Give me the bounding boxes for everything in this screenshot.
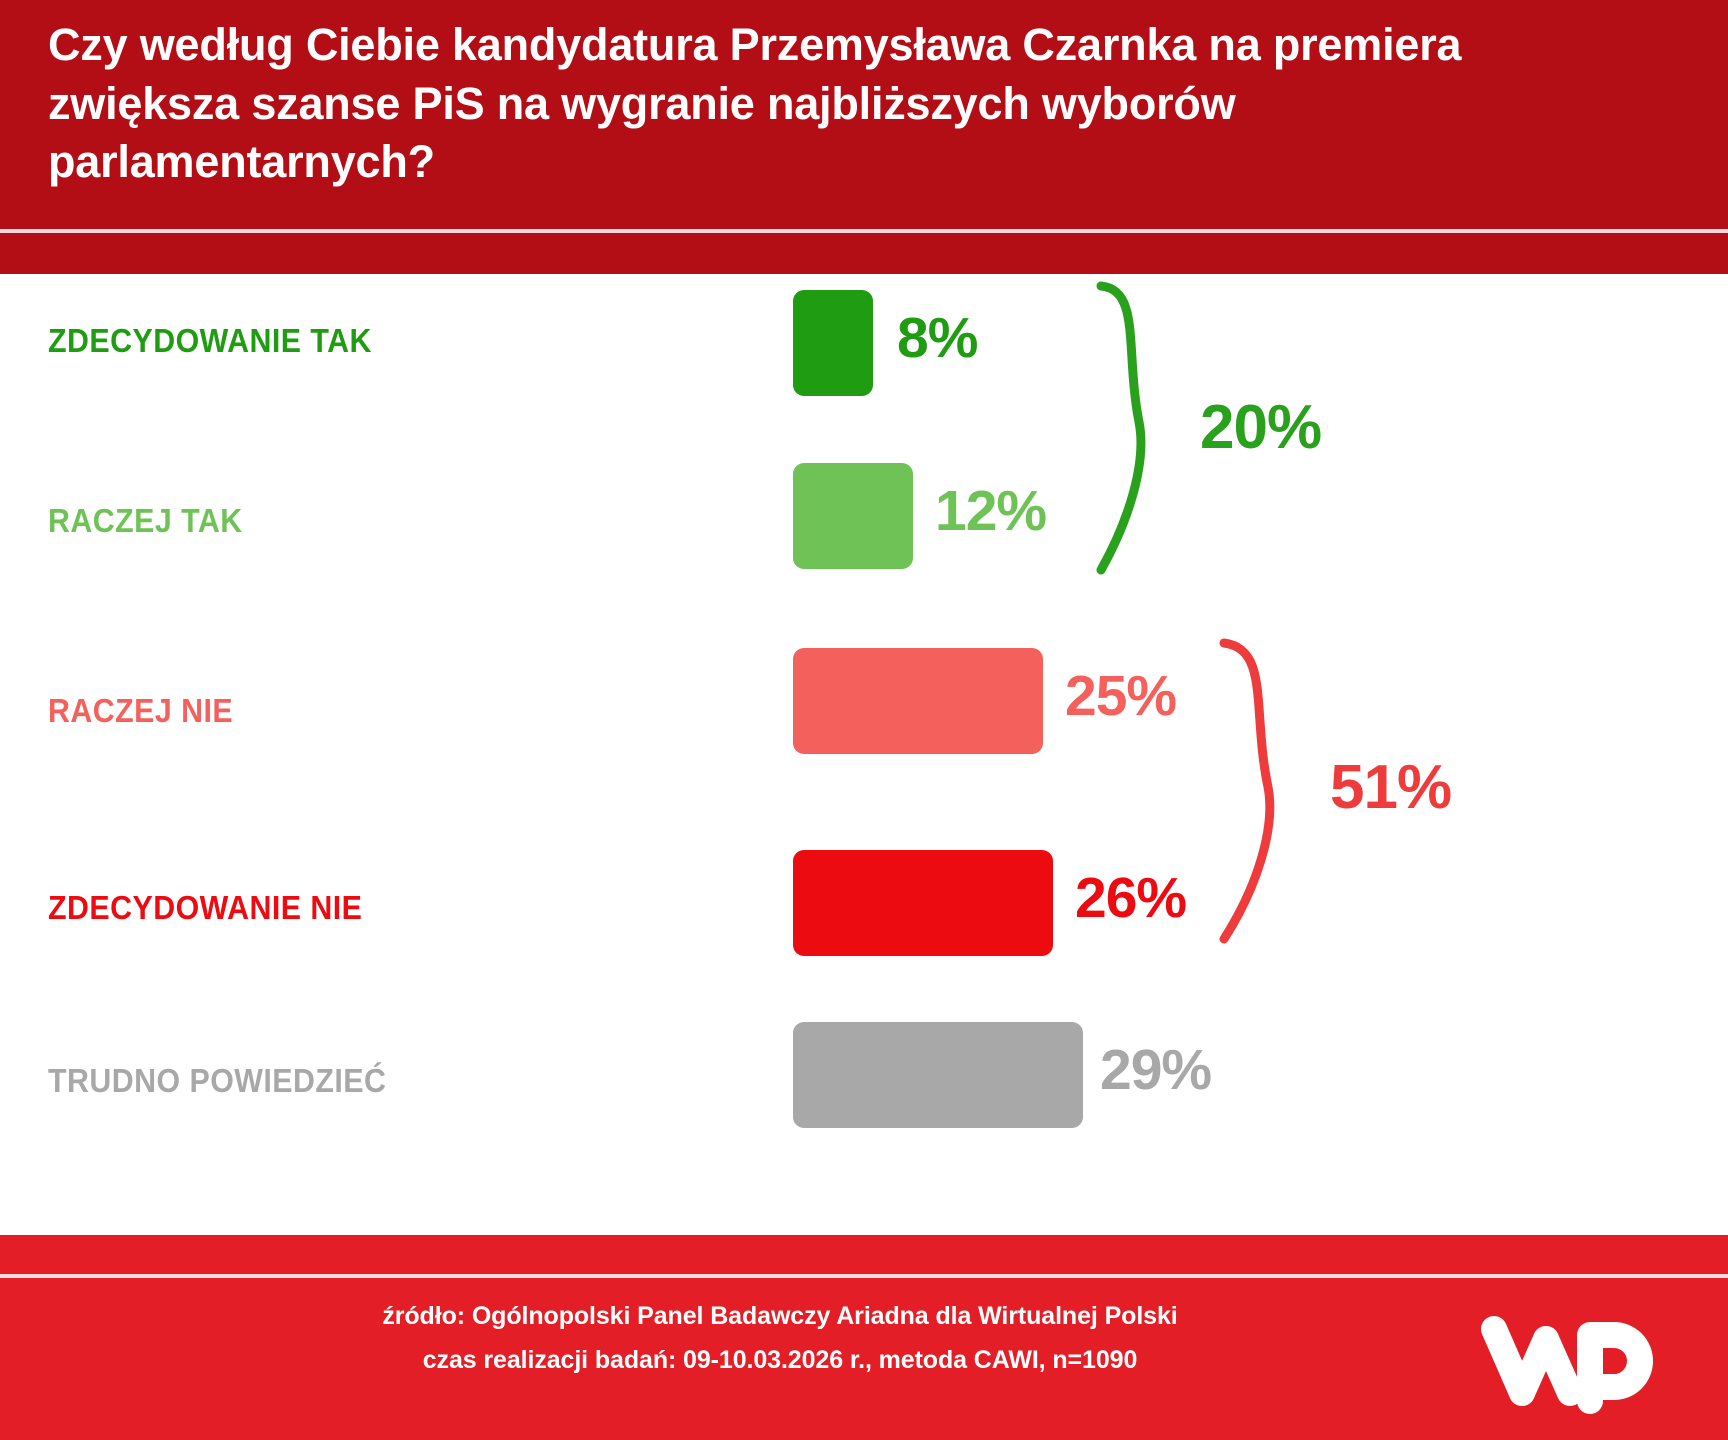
header-divider: [0, 229, 1728, 233]
bar-value-trudno-powiedziec: 29%: [1100, 1037, 1211, 1103]
chart-row: RACZEJ TAK 12%: [0, 454, 1728, 644]
row-label-raczej-nie: RACZEJ NIE: [48, 692, 233, 730]
chart-area: ZDECYDOWANIE TAK 8% RACZEJ TAK 12% RACZE…: [0, 274, 1728, 1235]
row-label-zdecydowanie-tak: ZDECYDOWANIE TAK: [48, 322, 372, 360]
chart-row: ZDECYDOWANIE TAK 8%: [0, 274, 1728, 454]
bar-zdecydowanie-nie: [793, 850, 1053, 956]
bar-value-zdecydowanie-nie: 26%: [1075, 865, 1186, 931]
bar-raczej-tak: [793, 463, 913, 569]
footer-method-line: czas realizacji badań: 09-10.03.2026 r.,…: [0, 1339, 1560, 1383]
row-label-trudno-powiedziec: TRUDNO POWIEDZIEĆ: [48, 1062, 386, 1100]
chart-row: TRUDNO POWIEDZIEĆ 29%: [0, 1024, 1728, 1214]
chart-row: ZDECYDOWANIE NIE 26%: [0, 834, 1728, 1024]
bar-value-zdecydowanie-tak: 8%: [897, 305, 977, 371]
footer-band: źródło: Ogólnopolski Panel Badawczy Aria…: [0, 1235, 1728, 1440]
brace-yes-icon: [1095, 280, 1175, 580]
bar-zdecydowanie-tak: [793, 290, 873, 396]
row-label-raczej-tak: RACZEJ TAK: [48, 502, 243, 540]
bar-raczej-nie: [793, 648, 1043, 754]
wp-logo: [1478, 1315, 1668, 1415]
row-label-zdecydowanie-nie: ZDECYDOWANIE NIE: [48, 889, 362, 927]
infographic-page: Czy według Ciebie kandydatura Przemysław…: [0, 0, 1728, 1440]
footer-text-block: źródło: Ogólnopolski Panel Badawczy Aria…: [0, 1295, 1560, 1383]
footer-source-line: źródło: Ogólnopolski Panel Badawczy Aria…: [0, 1295, 1560, 1339]
bar-trudno-powiedziec: [793, 1022, 1083, 1128]
page-title: Czy według Ciebie kandydatura Przemysław…: [48, 16, 1558, 192]
footer-divider: [0, 1274, 1728, 1278]
chart-row: RACZEJ NIE 25%: [0, 644, 1728, 834]
brace-no-icon: [1218, 637, 1308, 947]
bar-value-raczej-nie: 25%: [1065, 663, 1176, 729]
group-total-no: 51%: [1330, 752, 1451, 823]
group-total-yes: 20%: [1200, 392, 1321, 463]
bar-value-raczej-tak: 12%: [935, 478, 1046, 544]
header-band: Czy według Ciebie kandydatura Przemysław…: [0, 0, 1728, 274]
